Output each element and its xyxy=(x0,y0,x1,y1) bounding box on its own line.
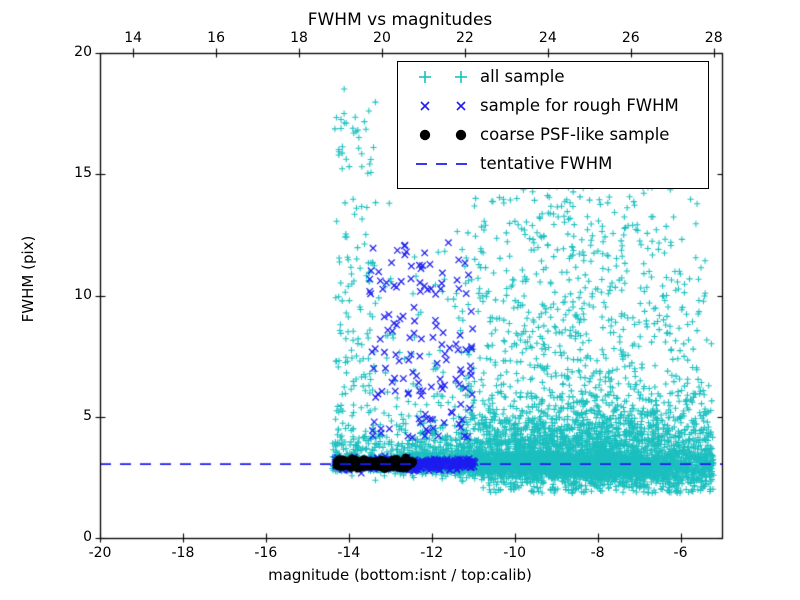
legend-label: coarse PSF-like sample xyxy=(480,125,669,144)
x-tick-bottom: -6 xyxy=(674,545,688,561)
y-tick: 10 xyxy=(74,287,92,303)
x-tick-top: 20 xyxy=(373,30,391,46)
plus-icon xyxy=(406,65,480,89)
legend-label: sample for rough FWHM xyxy=(480,96,679,115)
y-tick: 15 xyxy=(74,165,92,181)
y-axis-label: FWHM (pix) xyxy=(19,189,37,369)
x-tick-top: 24 xyxy=(539,30,557,46)
x-axis-label: magnitude (bottom:isnt / top:calib) xyxy=(0,566,800,584)
chart-title: FWHM vs magnitudes xyxy=(0,10,800,30)
legend-entry-coarse-psf: coarse PSF-like sample xyxy=(398,120,708,149)
y-tick: 0 xyxy=(83,529,92,545)
legend-label: all sample xyxy=(480,67,565,86)
x-tick-bottom: -12 xyxy=(420,545,443,561)
x-tick-top: 28 xyxy=(705,30,723,46)
legend-label: tentative FWHM xyxy=(480,154,612,173)
x-tick-top: 16 xyxy=(207,30,225,46)
legend: all sample sample for rough FWHM xyxy=(397,61,709,189)
x-tick-bottom: -14 xyxy=(337,545,360,561)
cross-icon xyxy=(406,94,480,118)
x-tick-top: 14 xyxy=(124,30,142,46)
dashed-line-icon xyxy=(406,152,480,176)
x-tick-top: 26 xyxy=(622,30,640,46)
y-tick: 5 xyxy=(83,408,92,424)
x-tick-top: 18 xyxy=(290,30,308,46)
legend-entry-all-sample: all sample xyxy=(398,62,708,91)
x-tick-bottom: -16 xyxy=(254,545,277,561)
x-tick-bottom: -20 xyxy=(89,545,112,561)
legend-entry-tentative-fwhm: tentative FWHM xyxy=(398,149,708,178)
legend-entry-rough-fwhm: sample for rough FWHM xyxy=(398,91,708,120)
y-tick: 20 xyxy=(74,44,92,60)
figure-root: FWHM vs magnitudes magnitude (bottom:isn… xyxy=(0,0,800,600)
x-tick-bottom: -8 xyxy=(591,545,605,561)
x-tick-bottom: -10 xyxy=(503,545,526,561)
dot-icon xyxy=(406,123,480,147)
x-tick-bottom: -18 xyxy=(171,545,194,561)
x-tick-top: 22 xyxy=(456,30,474,46)
